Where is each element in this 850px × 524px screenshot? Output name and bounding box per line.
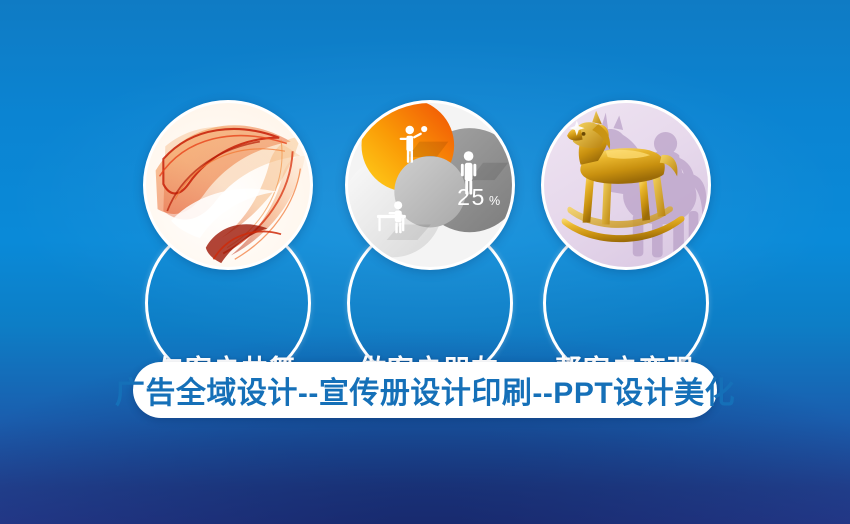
image-disc-rocking-horse: [541, 100, 711, 270]
circle-group-row: 与客户共舞: [0, 0, 850, 524]
circle-group-help-customer-grow-strong[interactable]: 帮客户变强: [525, 95, 725, 335]
svg-text:25: 25: [457, 184, 486, 210]
bottom-service-banner-text: 广告全域设计--宣传册设计印刷--PPT设计美化: [115, 368, 735, 412]
circle-group-dance-with-customer[interactable]: 与客户共舞: [127, 95, 327, 335]
svg-text:%: %: [489, 194, 500, 208]
image-disc-business-infographic: 25 %: [345, 100, 515, 270]
promo-banner-stage: 与客户共舞: [0, 0, 850, 524]
image-disc-abstract-smoke-swirl: [143, 100, 313, 270]
circle-group-be-customer-friend[interactable]: 25 % 做客户朋友: [329, 95, 529, 335]
bottom-service-banner[interactable]: 广告全域设计--宣传册设计印刷--PPT设计美化: [133, 362, 717, 418]
